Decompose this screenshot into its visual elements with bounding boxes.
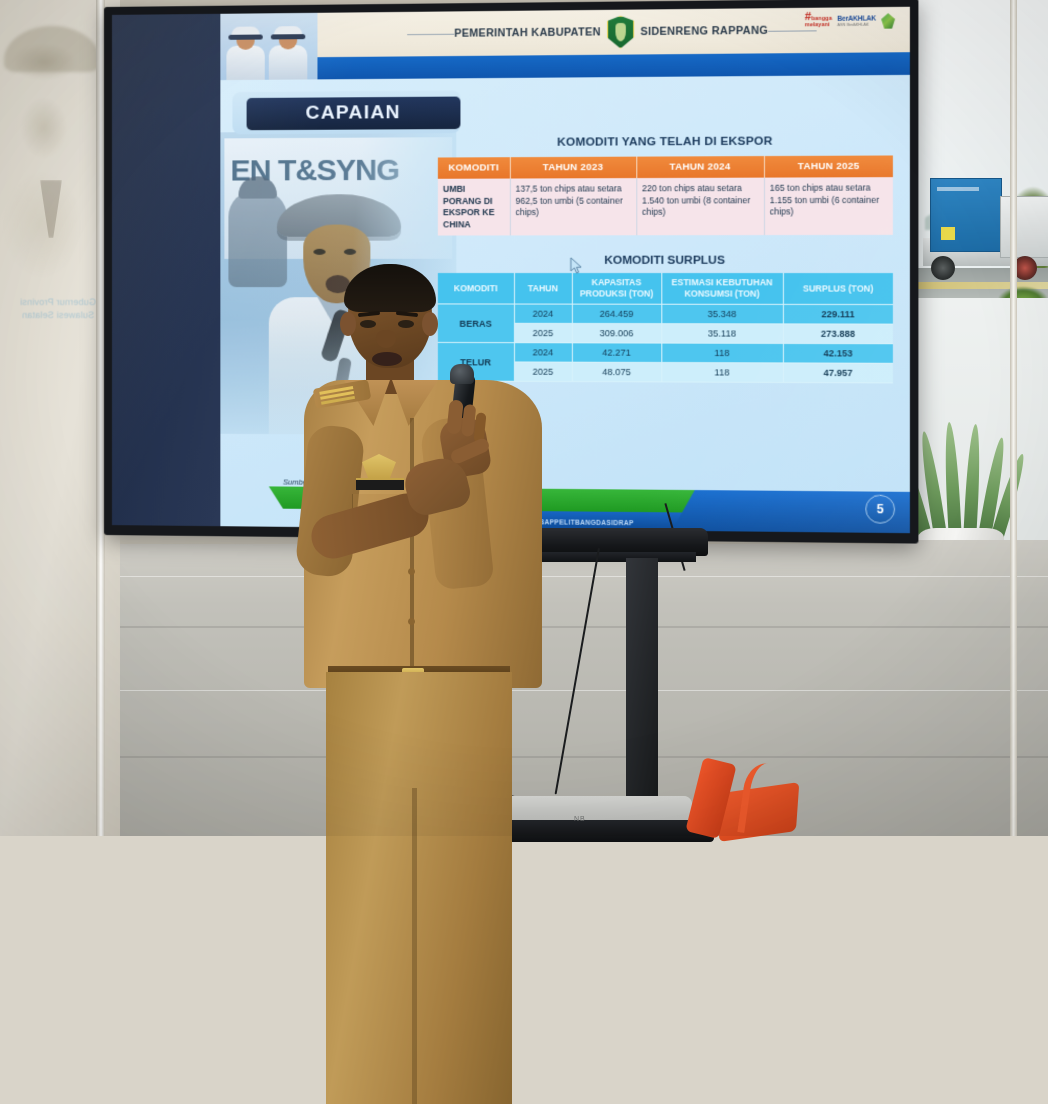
cell-kebutuhan: 35.118	[661, 324, 783, 344]
section-badge-label: CAPAIAN	[306, 102, 401, 125]
surplus-table-title: KOMODITI SURPLUS	[432, 254, 902, 266]
export-table: KOMODITI TAHUN 2023 TAHUN 2024 TAHUN 202…	[438, 155, 893, 235]
cell-2025: 165 ton chips atau setara 1.155 ton umbi…	[764, 177, 893, 235]
presenter-name-tag	[356, 478, 404, 490]
cell-kapasitas: 42.271	[572, 343, 661, 363]
presenter-eye	[360, 320, 376, 328]
bangga-melayani-bangsa-logo: #banggamelayani	[805, 15, 832, 29]
table-header-row: KOMODITI TAHUN 2023 TAHUN 2024 TAHUN 202…	[438, 155, 893, 178]
chair-frame	[737, 761, 799, 840]
cell-2023: 137,5 ton chips atau setara 962,5 ton um…	[510, 178, 636, 235]
cell-komoditi: UMBI PORANG DI EKSPOR KE CHINA	[438, 179, 510, 236]
presenter-person	[300, 268, 550, 836]
section-badge: CAPAIAN	[247, 97, 461, 131]
stand-cable	[555, 548, 600, 795]
presenter-eye	[398, 320, 414, 328]
cell-surplus: 273.888	[783, 324, 893, 344]
cell-surplus: 42.153	[783, 343, 893, 363]
presenter-trousers	[326, 672, 512, 1104]
official-figure	[226, 25, 264, 80]
regional-leaders-photo	[220, 13, 317, 80]
mouse-cursor	[570, 257, 582, 274]
export-table-title: KOMODITI YANG TELAH DI EKSPOR	[432, 135, 902, 150]
regency-crest-icon	[607, 16, 634, 49]
presenter-trouser-seam	[412, 788, 417, 1104]
window-mullion	[1010, 0, 1017, 836]
cell-surplus: 47.957	[783, 363, 893, 383]
cell-kebutuhan: 118	[661, 362, 783, 382]
presenter-hair	[344, 264, 436, 312]
cell-surplus: 229.111	[783, 304, 893, 324]
orange-chair	[686, 760, 806, 836]
cell-kebutuhan: 118	[661, 343, 783, 363]
slide-number-badge: 5	[865, 495, 895, 524]
header-logos: #banggamelayani BerAKHLAKASN BerAKHLAK	[805, 13, 895, 29]
presenter-ear	[422, 312, 438, 336]
instagram-handle: BAPPELITBANGDASIDRAP	[539, 519, 634, 527]
column-header-kebutuhan: ESTIMASI KEBUTUHAN KONSUMSI (TON)	[661, 273, 783, 304]
column-header-2024: TAHUN 2024	[636, 156, 764, 178]
snake-plant-leaves	[915, 420, 1007, 542]
green-shield-logo	[881, 13, 895, 29]
presenter-mouth	[372, 352, 402, 366]
government-label-right: SIDENRENG RAPPANG	[640, 25, 768, 38]
government-label-left: PEMERINTAH KABUPATEN	[454, 26, 601, 40]
presenter-shirt-placket	[410, 418, 414, 684]
column-header-surplus: SURPLUS (TON)	[783, 273, 893, 304]
official-figure	[269, 25, 308, 80]
cell-kapasitas: 309.006	[572, 323, 661, 343]
microphone-head-icon	[450, 364, 474, 384]
snake-plant-leaf	[943, 422, 962, 543]
cell-kebutuhan: 35.348	[661, 304, 783, 324]
cell-kapasitas: 264.459	[572, 304, 661, 324]
presenter-ear	[340, 312, 356, 336]
tv-stand-column	[626, 558, 658, 830]
column-header-komoditi: KOMODITI	[438, 157, 510, 179]
cell-kapasitas: 48.075	[572, 362, 661, 382]
presenter-shirt-button	[408, 618, 415, 625]
screen-glare-dark	[112, 14, 220, 526]
truck-cab	[1000, 196, 1048, 258]
cell-2024: 220 ton chips atau setara 1.540 ton umbi…	[636, 178, 764, 236]
shipping-container	[930, 178, 1002, 252]
stand-base-logo: NB	[574, 816, 586, 823]
column-header-kapasitas: KAPASITAS PRODUKSI (TON)	[572, 273, 661, 304]
berakhlak-logo: BerAKHLAKASN BerAKHLAK	[837, 15, 876, 27]
slide-header-blue-band	[220, 52, 910, 80]
column-header-2023: TAHUN 2023	[510, 157, 636, 179]
presenter-shirt-button	[408, 568, 415, 575]
section-badge-backdrop: CAPAIAN	[232, 90, 460, 134]
truck-wheel	[931, 256, 955, 280]
column-header-2025: TAHUN 2025	[764, 155, 893, 177]
table-row: UMBI PORANG DI EKSPOR KE CHINA 137,5 ton…	[438, 177, 893, 235]
